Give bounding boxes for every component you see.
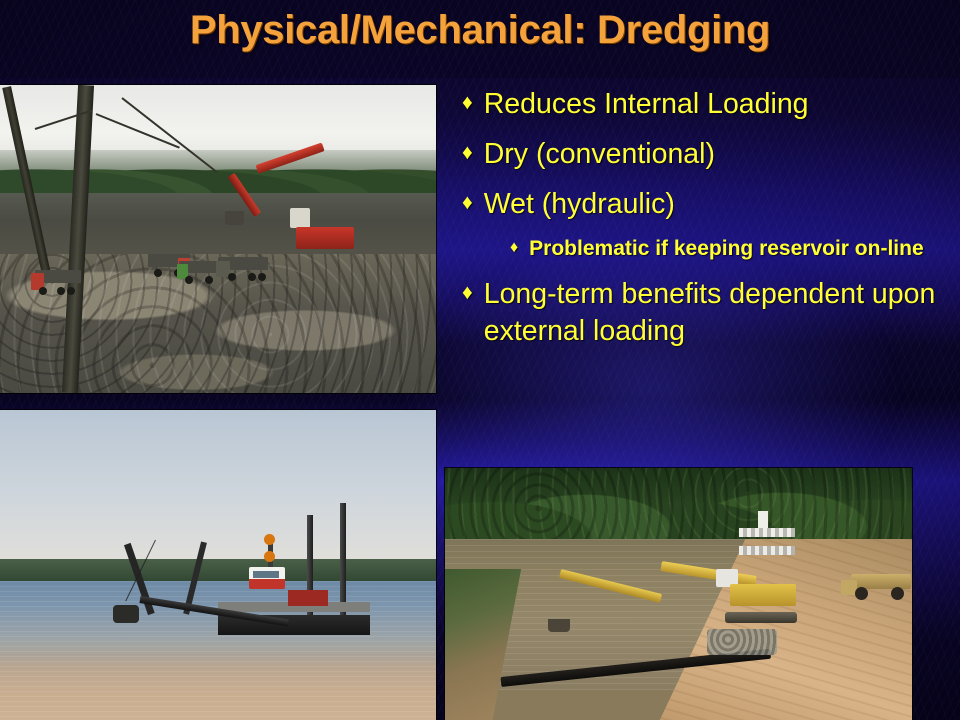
diamond-bullet-icon: ♦ [462,86,473,120]
diamond-bullet-icon: ♦ [462,186,473,220]
slide-canvas: Physical/Mechanical: Dredging ♦ Reduces … [0,0,960,720]
excavator-track [725,612,797,623]
dredge-cutterhead [113,605,139,623]
dump-truck [35,270,81,292]
truck-wheel [855,587,868,600]
bullet-text: Wet (hydraulic) [484,186,942,223]
photo-dry-dredging-site [0,85,436,393]
diamond-bullet-icon: ♦ [462,136,473,170]
excavator-body [730,584,796,606]
photo-reservoir-excavator [445,468,912,720]
diamond-bullet-icon: ♦ [510,236,518,261]
bullet-item: ♦ Long-term benefits dependent upon exte… [462,276,942,350]
lattice-tower [739,528,795,537]
truck-wheel [67,287,75,295]
truck-wheel [57,287,65,295]
dredge-cabin-window [253,571,279,578]
day-shape-marker [264,534,275,545]
bullet-item: ♦ Dry (conventional) [462,136,942,173]
bullet-text: Dry (conventional) [484,136,942,173]
bullet-list: ♦ Reduces Internal Loading ♦ Dry (conven… [462,86,942,363]
riprap-armor [707,629,777,655]
dump-truck [218,257,268,278]
treeline-region [0,150,436,199]
photo-hydraulic-dredge [0,410,436,720]
diamond-bullet-icon: ♦ [462,276,473,310]
haul-truck [851,574,911,600]
truck-wheel [891,587,904,600]
bullet-item: ♦ Reduces Internal Loading [462,86,942,123]
dredge-machinery-housing [288,590,328,606]
excavator-bucket [548,619,570,632]
excavator-bucket [225,211,244,225]
truck-wheel [185,276,193,284]
sub-bullet-text: Problematic if keeping reservoir on-line [529,236,942,262]
excavator-cab [290,208,310,228]
bullet-item: ♦ Wet (hydraulic) [462,186,942,223]
sky-region [0,410,436,568]
bullet-text: Reduces Internal Loading [484,86,942,123]
day-shape-marker [264,551,275,562]
truck-wheel [205,276,213,284]
lattice-tower [739,546,795,555]
excavator-body [296,227,354,249]
truck-wheel [39,287,47,295]
sub-bullet-item: ♦ Problematic if keeping reservoir on-li… [510,236,942,262]
midground-region [0,193,436,261]
slide-title: Physical/Mechanical: Dredging [0,8,960,53]
dump-truck [179,261,219,281]
bullet-text: Long-term benefits dependent upon extern… [484,276,942,350]
